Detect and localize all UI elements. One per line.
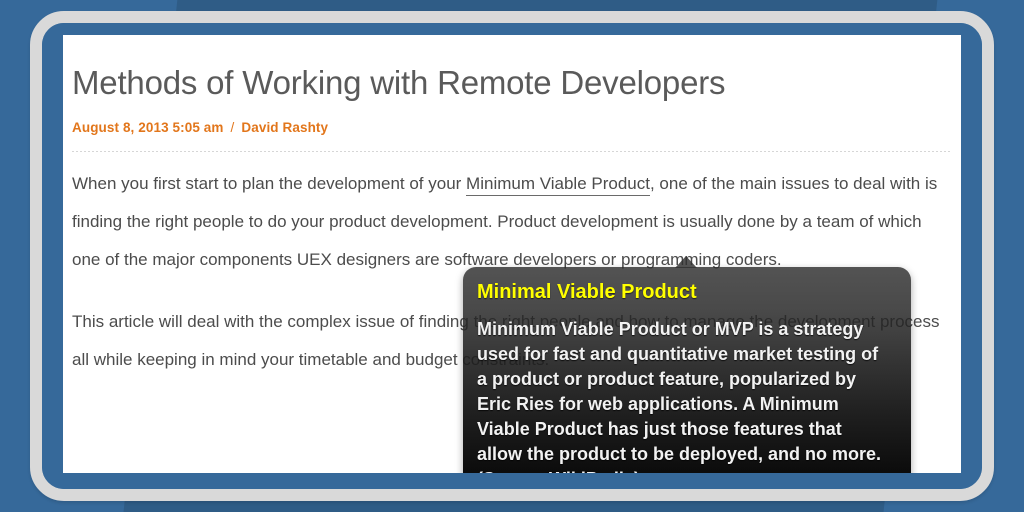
page-title: Methods of Working with Remote Developer…: [72, 35, 952, 103]
article-page: Methods of Working with Remote Developer…: [63, 35, 961, 473]
paragraph-1: When you first start to plan the develop…: [72, 152, 952, 279]
meta-separator: /: [224, 120, 242, 135]
tooltip-title: Minimal Viable Product: [463, 267, 911, 311]
tooltip-arrow-icon: [675, 256, 697, 268]
tooltip-body: Minimum Viable Product or MVP is a strat…: [463, 311, 911, 473]
mvp-glossary-link[interactable]: Minimum Viable Product: [466, 174, 650, 196]
post-author[interactable]: David Rashty: [241, 120, 328, 135]
post-date: August 8, 2013 5:05 am: [72, 120, 224, 135]
paragraph-1-text-before: When you first start to plan the develop…: [72, 174, 466, 193]
screenshot-stage: Methods of Working with Remote Developer…: [0, 0, 1024, 512]
glossary-tooltip: Minimal Viable Product Minimum Viable Pr…: [463, 267, 911, 473]
post-meta: August 8, 2013 5:05 am/David Rashty: [72, 103, 952, 136]
